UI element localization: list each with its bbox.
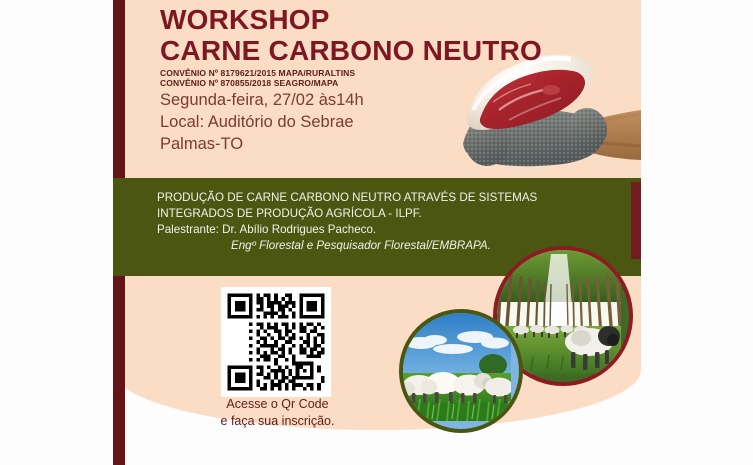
qr-caption-line1: Acesse o Qr Code <box>205 396 350 413</box>
qr-caption: Acesse o Qr Code e faça sua inscrição. <box>205 396 350 430</box>
talk-title-line2: INTEGRADOS DE PRODUÇÃO AGRÍCOLA - ILPF. <box>157 206 627 222</box>
pasture-cattle-artwork <box>403 313 511 421</box>
page-title-line2: CARNE CARBONO NEUTRO <box>160 37 580 66</box>
talk-title-line1: PRODUÇÃO DE CARNE CARBONO NEUTRO ATRAVÉS… <box>157 190 627 206</box>
qr-caption-line2: e faça sua inscrição. <box>205 413 350 430</box>
convenio-block: CONVÊNIO Nº 8179621/2015 MAPA/RURALTINS … <box>160 68 580 89</box>
green-band-right-accent-bar <box>631 182 641 259</box>
event-city: Palmas-TO <box>160 134 364 156</box>
convenio-line-2: CONVÊNIO Nº 870855/2018 SEAGRO/MAPA <box>160 78 580 88</box>
green-band-text: PRODUÇÃO DE CARNE CARBONO NEUTRO ATRAVÉS… <box>157 190 627 254</box>
event-date: Segunda-feira, 27/02 às14h <box>160 90 364 112</box>
poster-header: WORKSHOP CARNE CARBONO NEUTRO CONVÊNIO N… <box>160 6 580 89</box>
event-details: Segunda-feira, 27/02 às14h Local: Auditó… <box>160 90 364 155</box>
page-title-line1: WORKSHOP <box>160 6 580 35</box>
convenio-line-1: CONVÊNIO Nº 8179621/2015 MAPA/RURALTINS <box>160 68 580 78</box>
speaker-name: Palestrante: Dr. Abílio Rodrigues Pachec… <box>157 222 627 238</box>
qr-code-icon[interactable] <box>224 290 328 394</box>
pasture-cattle-circle-photo <box>399 309 523 433</box>
qr-code[interactable] <box>221 287 331 397</box>
poster-canvas: WORKSHOP CARNE CARBONO NEUTRO CONVÊNIO N… <box>0 0 753 465</box>
event-venue: Local: Auditório do Sebrae <box>160 112 364 134</box>
